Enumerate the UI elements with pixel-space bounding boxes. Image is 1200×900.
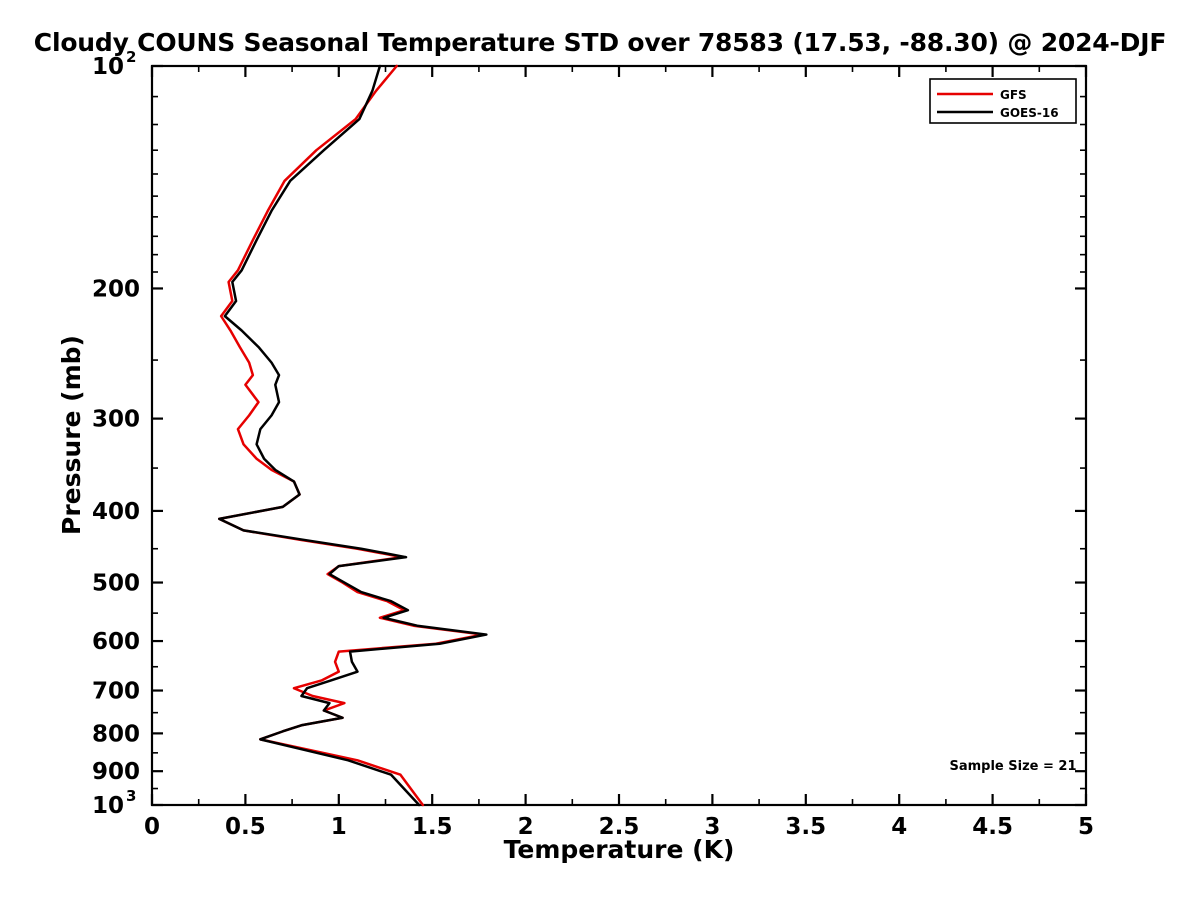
y-tick-label: 200 [92,276,140,302]
y-tick-label: 500 [92,571,140,597]
figure-canvas: Cloudy COUNS Seasonal Temperature STD ov… [0,0,1200,900]
legend[interactable]: GFSGOES-16 [930,79,1076,123]
sample-size-annotation: Sample Size = 21 [949,759,1076,774]
x-tick-label: 0 [144,814,160,840]
y-tick-label: 400 [92,499,140,525]
svg-text:3: 3 [126,787,136,805]
series-line-goes-16 [219,66,486,805]
svg-text:800: 800 [92,721,140,747]
y-tick-label: 800 [92,721,140,747]
svg-text:700: 700 [92,679,140,705]
x-tick-label: 1 [331,814,347,840]
y-axis-ticks [152,66,1086,805]
svg-text:10: 10 [92,54,124,80]
y-tick-label: 102 [92,48,136,80]
x-tick-label: 5 [1078,814,1094,840]
svg-text:2: 2 [126,48,136,66]
x-tick-label: 4.5 [972,814,1013,840]
svg-text:400: 400 [92,499,140,525]
svg-text:600: 600 [92,629,140,655]
svg-text:900: 900 [92,759,140,785]
svg-text:10: 10 [92,793,124,819]
x-axis-ticks [152,66,1086,805]
y-tick-label: 600 [92,629,140,655]
y-axis-title: Pressure (mb) [57,335,86,535]
plot-area[interactable]: 00.511.522.533.544.55 102200300400500600… [0,0,1200,900]
y-tick-label: 900 [92,759,140,785]
legend-label-gfs: GFS [1000,88,1027,102]
axes-frame [152,66,1086,805]
y-axis-tick-labels: 102200300400500600700800900103 [92,48,140,819]
x-axis-title: Temperature (K) [504,835,735,864]
y-tick-label: 300 [92,407,140,433]
legend-label-goes-16: GOES-16 [1000,106,1059,120]
svg-text:300: 300 [92,407,140,433]
x-tick-label: 0.5 [225,814,266,840]
data-series-layer [219,66,486,805]
x-tick-label: 3.5 [785,814,826,840]
y-tick-label: 103 [92,787,136,819]
x-tick-label: 4 [891,814,907,840]
y-tick-label: 700 [92,679,140,705]
svg-text:500: 500 [92,571,140,597]
x-tick-label: 1.5 [412,814,453,840]
svg-text:200: 200 [92,276,140,302]
